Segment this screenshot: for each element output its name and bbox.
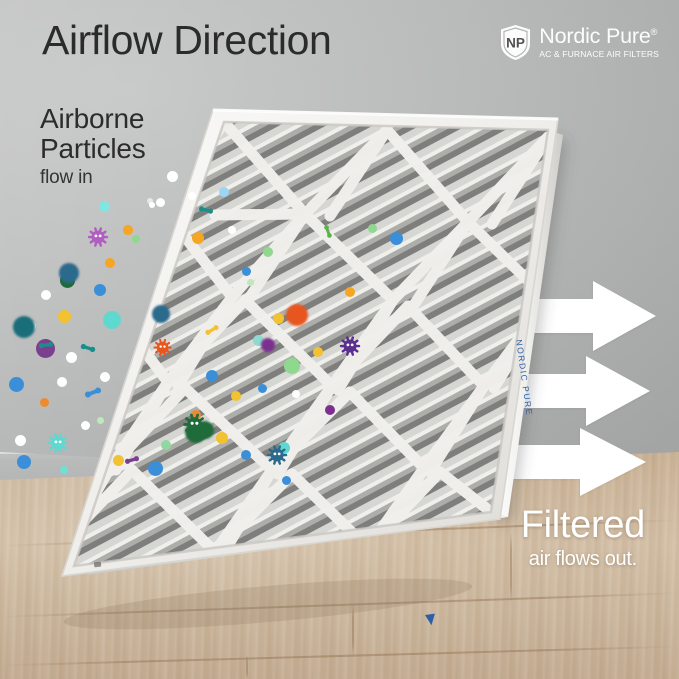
particle-dot [247, 279, 254, 286]
particle-dot [148, 461, 163, 476]
particle-dot [258, 384, 267, 393]
particle-dot [325, 405, 335, 415]
particle-germ-icon [85, 224, 111, 250]
particle-dot [206, 370, 218, 382]
outlet-label-title: Filtered [521, 504, 645, 546]
particle-blurred-dot [261, 338, 275, 352]
particle-dot [345, 287, 355, 297]
particle-blurred-dot [286, 304, 308, 326]
particle-dot [9, 377, 24, 392]
particle-dot [390, 232, 403, 245]
particle-dot [282, 476, 291, 485]
outlet-label-sub: air flows out. [521, 546, 645, 572]
filter-corner-tab [94, 562, 102, 568]
particle-dot [58, 310, 71, 323]
particle-dot [17, 455, 31, 469]
particle-dot [167, 171, 178, 182]
particle-dot [219, 187, 229, 197]
particle-dot [241, 450, 251, 460]
infographic-canvas: Airflow Direction Airborne Particles flo… [0, 0, 679, 679]
particle-dot [60, 466, 68, 474]
particle-dot [231, 391, 241, 401]
particle-dot [40, 398, 49, 407]
filter-floor-shadow [62, 568, 474, 640]
particle-dot [216, 432, 228, 444]
particle-dot [313, 347, 323, 357]
airflow-direction-marker [425, 614, 436, 626]
particle-dot [228, 226, 236, 234]
particle-blurred-dot [13, 316, 35, 338]
particle-dot [100, 372, 110, 382]
particle-blurred-dot [152, 305, 170, 323]
particle-dot [123, 225, 133, 235]
particle-germ-icon [151, 336, 174, 359]
particle-dot [292, 390, 300, 398]
particle-blurred-dot [59, 263, 79, 283]
particle-dot [41, 290, 51, 300]
particle-dot [156, 198, 165, 207]
particle-dot [99, 201, 110, 212]
particle-germ-icon [45, 430, 71, 456]
particle-germ-icon [180, 410, 209, 439]
particle-dot [149, 202, 155, 208]
particle-dot [284, 358, 300, 374]
particle-germ-icon [264, 442, 290, 468]
particle-dot [161, 440, 171, 450]
particle-germ-icon [337, 333, 363, 359]
particle-dot [192, 232, 204, 244]
particle-dot [66, 352, 77, 363]
particle-dot [97, 417, 104, 424]
particle-dot [103, 311, 121, 329]
particle-dot [105, 258, 115, 268]
particle-dot [81, 421, 90, 430]
particle-dot [94, 284, 106, 296]
particle-dot [263, 247, 273, 257]
particle-dot [57, 377, 67, 387]
particle-dot [368, 224, 377, 233]
particle-dot [242, 267, 251, 276]
particle-dot [273, 313, 284, 324]
particle-dot [188, 192, 196, 200]
outlet-label: Filtered air flows out. [521, 505, 645, 572]
particle-dot [15, 435, 26, 446]
